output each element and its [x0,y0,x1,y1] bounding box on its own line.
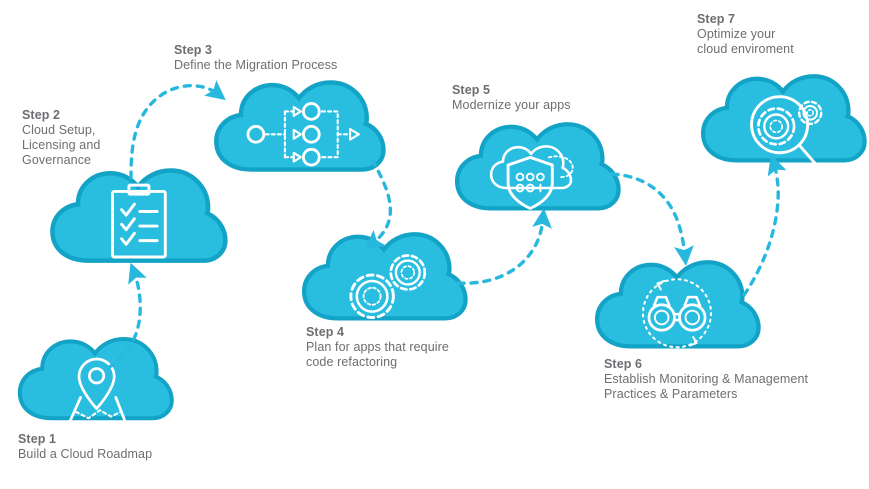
step-4-number: Step 4 [306,325,449,340]
step-3-label: Step 3 Define the Migration Process [174,43,337,73]
connector-2-3 [131,86,218,178]
step-3-number: Step 3 [174,43,337,58]
step-7-description: Optimize your cloud enviroment [697,27,794,57]
step-4-description: Plan for apps that require code refactor… [306,340,449,370]
step-5-description: Modernize your apps [452,98,571,113]
connector-4-5 [458,218,543,283]
step-1-label: Step 1 Build a Cloud Roadmap [18,432,152,462]
step-1-description: Build a Cloud Roadmap [18,447,152,462]
step-2-number: Step 2 [22,108,100,123]
step-2-label: Step 2 Cloud Setup, Licensing and Govern… [22,108,100,168]
step-6-label: Step 6 Establish Monitoring & Management… [604,357,808,402]
step-7-label: Step 7 Optimize your cloud enviroment [697,12,794,57]
step-6-number: Step 6 [604,357,808,372]
step-7-number: Step 7 [697,12,794,27]
step-5-label: Step 5 Modernize your apps [452,83,571,113]
diagram-canvas: Step 1 Build a Cloud Roadmap Step 2 Clou… [0,0,869,489]
connector-5-6 [612,174,685,256]
step-6-description: Establish Monitoring & Management Practi… [604,372,808,402]
connector-3-4 [372,160,390,244]
step-5-number: Step 5 [452,83,571,98]
connector-6-7 [744,164,778,295]
step-1-number: Step 1 [18,432,152,447]
step-3-description: Define the Migration Process [174,58,337,73]
connectors-layer [0,0,869,489]
step-2-description: Cloud Setup, Licensing and Governance [22,123,100,168]
step-4-label: Step 4 Plan for apps that require code r… [306,325,449,370]
connector-1-2 [108,272,140,368]
